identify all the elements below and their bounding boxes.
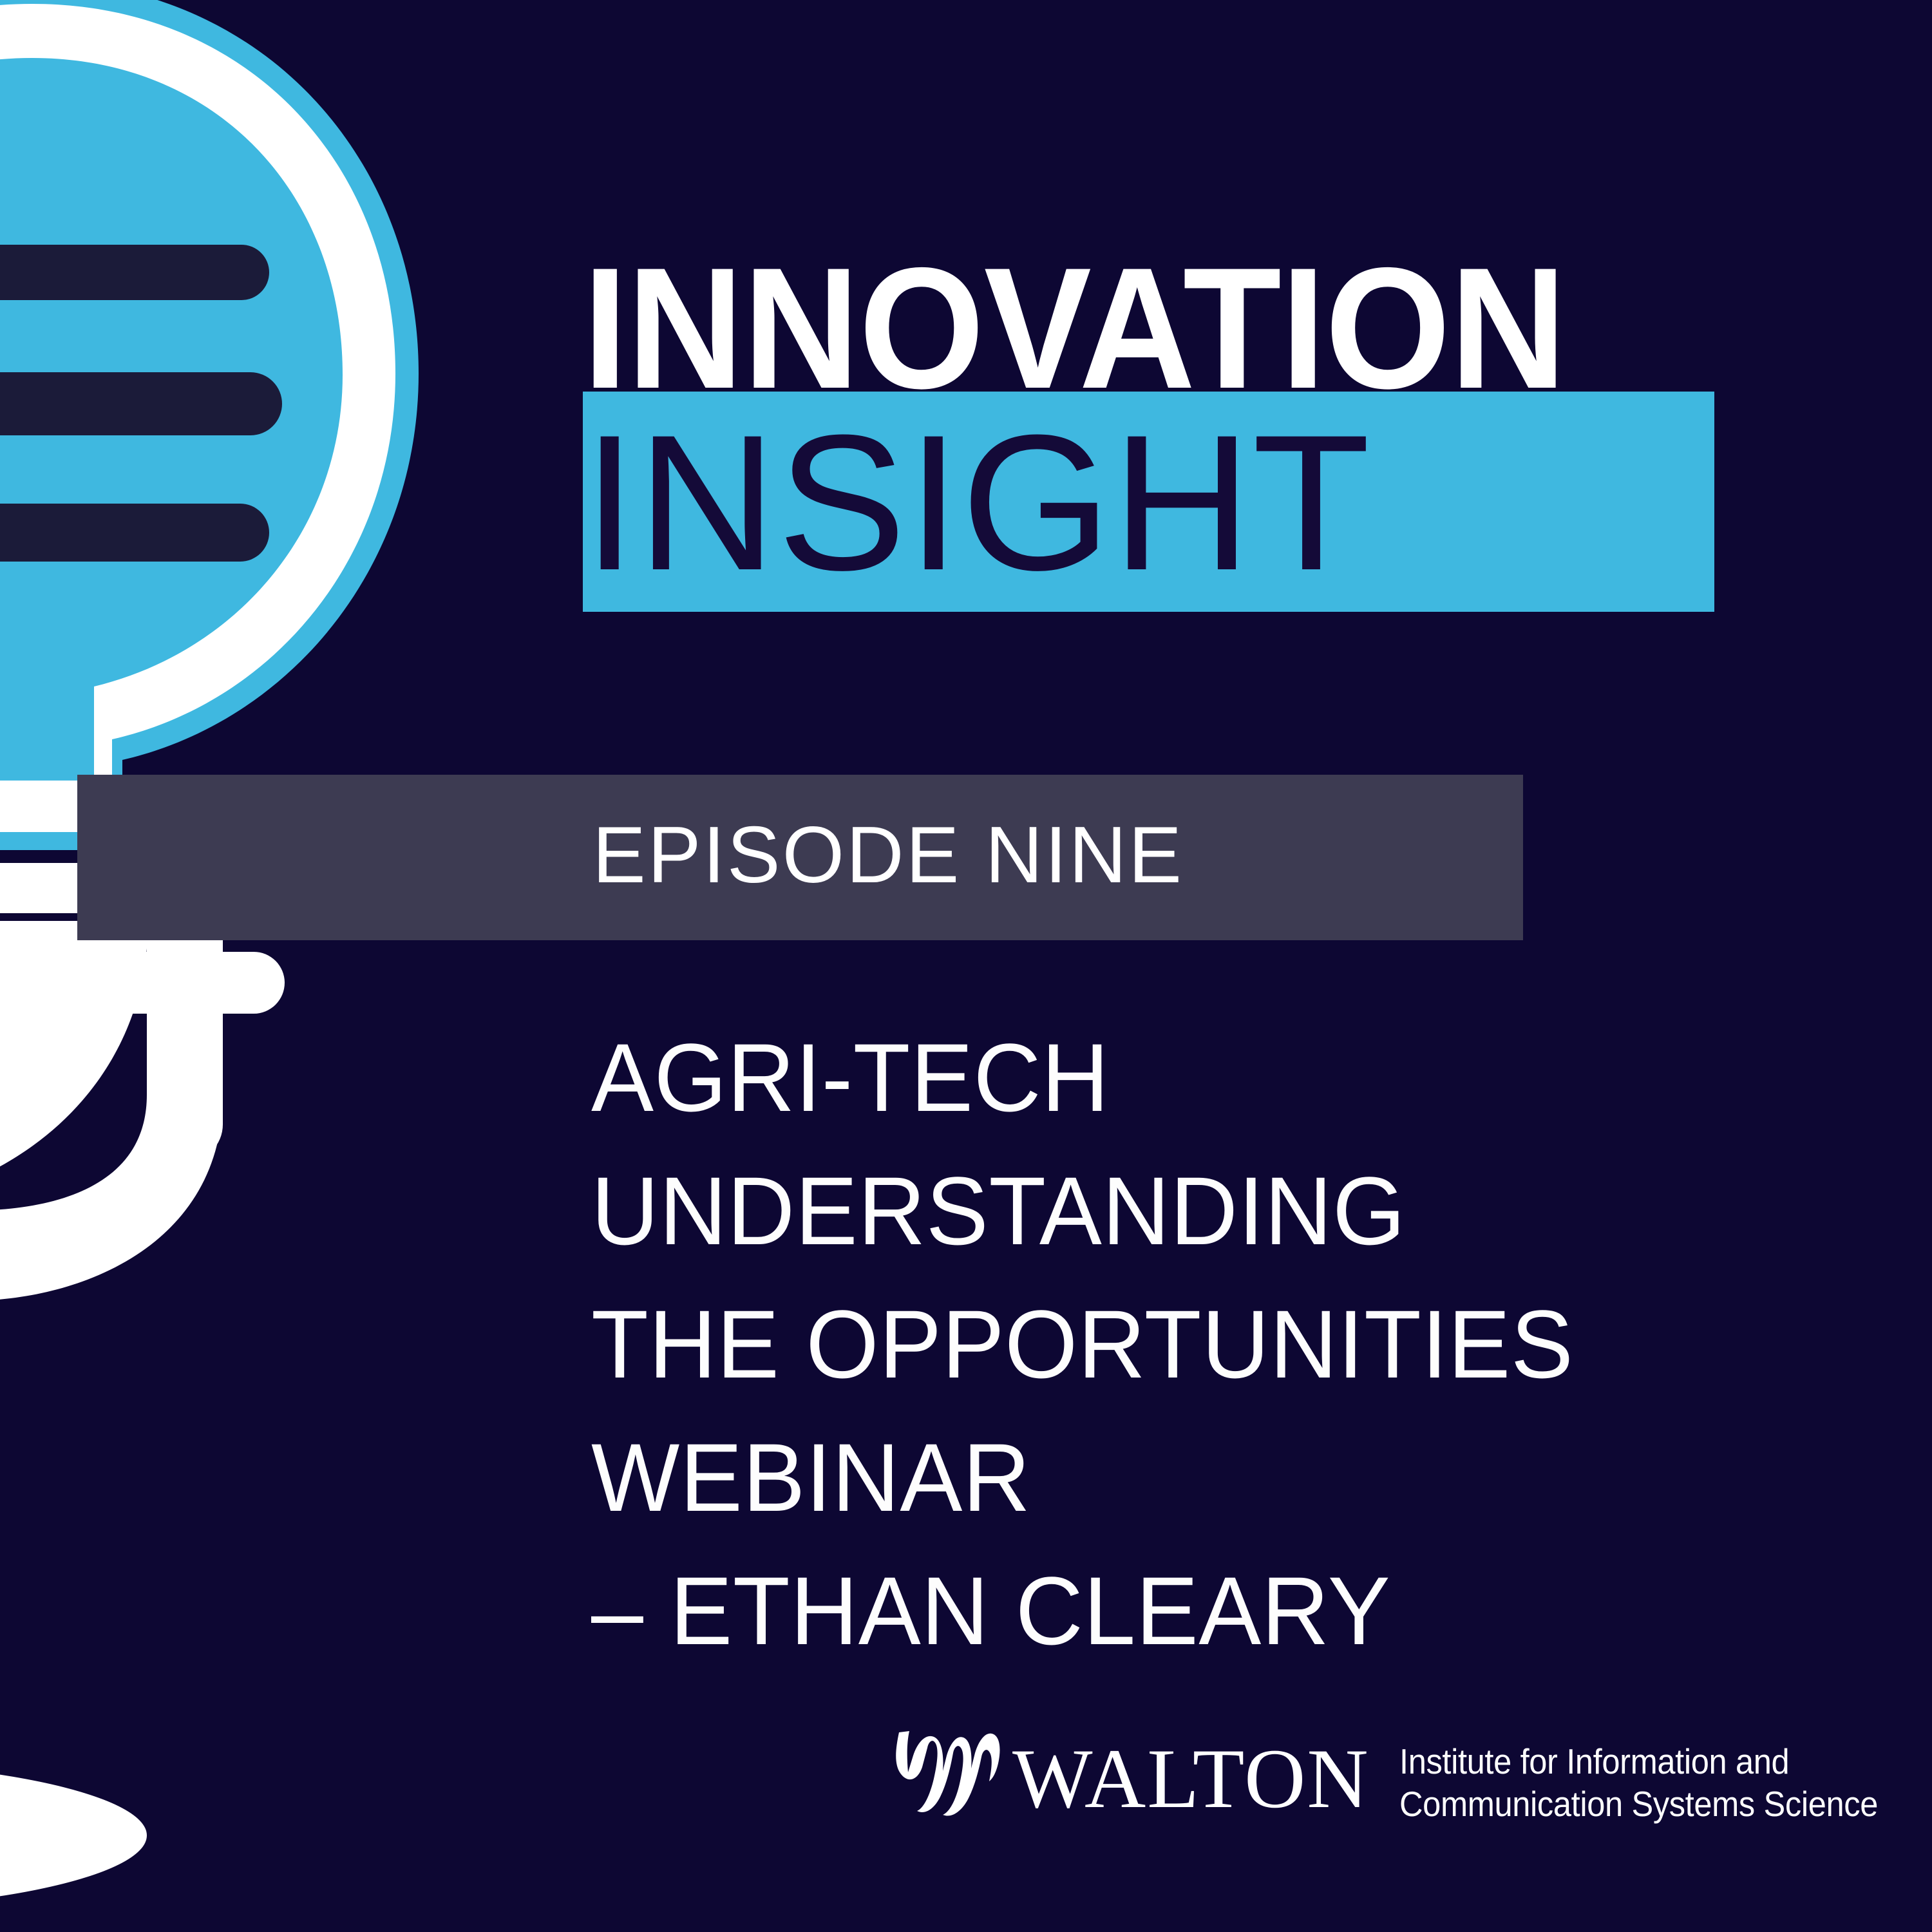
mic-head-capsule [0,58,343,781]
mic-arm-curve [0,1095,223,1301]
mic-head-outer-edge [0,0,419,850]
mic-base-plate [0,1759,147,1911]
episode-title-line: UNDERSTANDING [591,1144,1834,1278]
brand-title-insight: INSIGHT [583,406,1806,599]
mic-cradle-bowl [0,921,148,1211]
episode-title: AGRI-TECH UNDERSTANDING THE OPPORTUNITIE… [591,1011,1834,1678]
mic-grille-slot-1 [0,245,269,300]
mic-grille-slot-3 [0,504,269,562]
walton-wordmark: WALTON [1012,1736,1370,1821]
podcast-microphone-illustration [0,0,496,1932]
mic-head-white-ring [0,4,395,832]
episode-title-line: – ETHAN CLEARY [591,1544,1834,1678]
walton-tagline: Institute for Information and Communicat… [1399,1740,1878,1825]
episode-title-line: AGRI-TECH [591,1011,1834,1144]
walton-wave-mark-icon [894,1728,1002,1825]
episode-title-line: THE OPPORTUNITIES [591,1278,1834,1411]
mic-adjustment-knob [91,952,285,1014]
mic-grille-slot-2 [0,372,282,435]
episode-title-line: WEBINAR [591,1411,1834,1544]
walton-tagline-line-2: Communication Systems Science [1399,1783,1878,1825]
podcast-cover-art: INNOVATION INSIGHT EPISODE NINE AGRI-TEC… [0,0,1932,1932]
brand-title-innovation: INNOVATION [583,241,1667,414]
walton-logo-lockup: WALTON Institute for Information and Com… [894,1731,1919,1825]
episode-number-label: EPISODE NINE [592,804,1184,907]
walton-tagline-line-1: Institute for Information and [1399,1740,1878,1783]
